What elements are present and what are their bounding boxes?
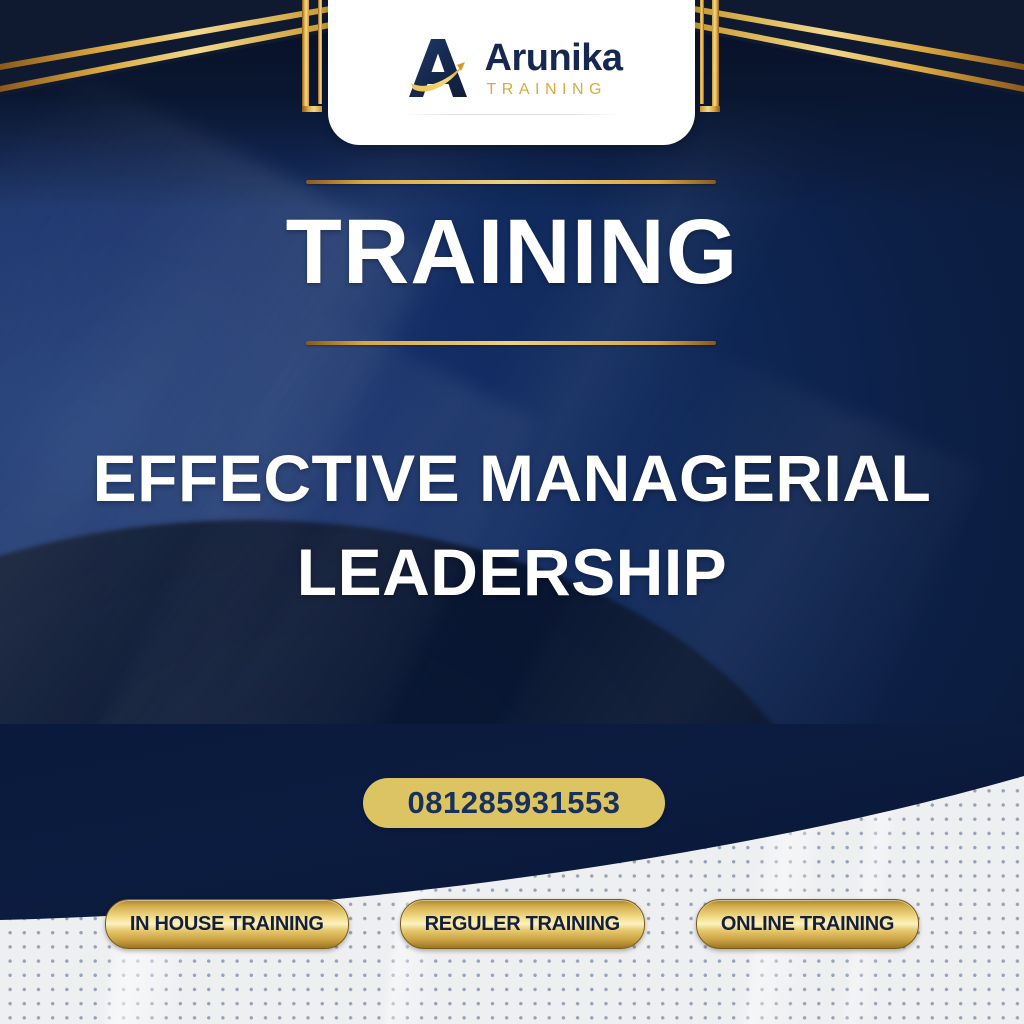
logo-underline-rule <box>403 114 621 115</box>
online-training-button[interactable]: ONLINE TRAINING <box>696 899 919 949</box>
page-title: EFFECTIVE MANAGERIAL LEADERSHIP <box>0 432 1024 619</box>
reguler-training-button[interactable]: REGULER TRAINING <box>400 899 645 949</box>
gold-rule-top <box>306 180 716 184</box>
gold-rule-bottom <box>306 341 716 345</box>
logo-lockup: Arunika TRAINING <box>401 31 623 145</box>
in-house-training-label: IN HOUSE TRAINING <box>130 913 324 936</box>
online-training-label: ONLINE TRAINING <box>721 913 894 936</box>
logo-brand-subtitle: TRAINING <box>485 82 623 98</box>
logo-text-block: Arunika TRAINING <box>485 39 623 98</box>
eyebrow-training: TRAINING <box>0 206 1024 298</box>
logo-card: Arunika TRAINING <box>328 0 695 145</box>
title-line-2: LEADERSHIP <box>0 526 1024 620</box>
letter-a-swoosh-logo-icon <box>401 31 475 105</box>
navy-curve-cap <box>0 724 1024 1024</box>
promo-poster: Arunika TRAINING TRAINING EFFECTIVE MANA… <box>0 0 1024 1024</box>
phone-number: 081285931553 <box>408 785 621 821</box>
in-house-training-button[interactable]: IN HOUSE TRAINING <box>105 899 349 949</box>
phone-badge[interactable]: 081285931553 <box>363 778 665 828</box>
cta-button-row: IN HOUSE TRAINING REGULER TRAINING ONLIN… <box>0 899 1024 949</box>
logo-brand-name: Arunika <box>485 39 623 77</box>
bottom-dotted-panel <box>0 724 1024 1024</box>
reguler-training-label: REGULER TRAINING <box>425 913 620 936</box>
title-line-1: EFFECTIVE MANAGERIAL <box>0 432 1024 526</box>
